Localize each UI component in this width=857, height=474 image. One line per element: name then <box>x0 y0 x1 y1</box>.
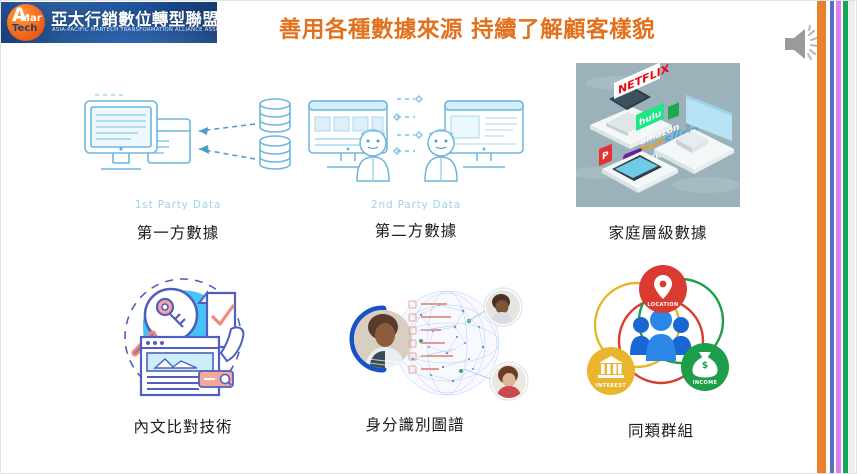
presentation-slide: A Mar Tech 亞太行銷數位轉型聯盟協會 ASIA-PACIFIC MAR… <box>0 0 857 474</box>
card-caption: 第一方數據 <box>63 221 293 243</box>
magnifier-key-document-check-icon <box>103 273 263 407</box>
card-caption: 第二方數據 <box>301 219 531 241</box>
logo-text-tech: Tech <box>12 24 37 34</box>
svg-text:$: $ <box>702 361 708 371</box>
card-second-party-data[interactable]: 2nd Party Data 第二方數據 <box>301 87 531 241</box>
card-caption: 內文比對技術 <box>93 415 273 437</box>
card-caption: 同類群組 <box>577 419 745 441</box>
venn-location-interest-income-icon: LOCATION INTEREST <box>581 263 741 409</box>
slide-edge-color-stripes <box>817 1 855 473</box>
card-caption: 身分識別圖譜 <box>297 413 533 435</box>
desktop-database-arrows-icon <box>63 79 293 197</box>
association-logo-banner: A Mar Tech 亞太行銷數位轉型聯盟協會 ASIA-PACIFIC MAR… <box>1 2 217 43</box>
svg-text:INTEREST: INTEREST <box>596 383 627 389</box>
household-streaming-devices-image: NETFLIX hulu amazon P <box>576 63 740 207</box>
two-people-monitors-exchange-icon <box>301 87 531 197</box>
card-first-party-data[interactable]: 1st Party Data 第一方數據 <box>63 79 293 243</box>
svg-text:LOCATION: LOCATION <box>647 302 678 308</box>
card-sublabel: 2nd Party Data <box>301 199 531 211</box>
card-caption: 家庭層級數據 <box>567 221 749 243</box>
identity-graph-network-portraits-image <box>297 275 533 407</box>
stripe-light-gray <box>848 1 855 473</box>
svg-text:INCOME: INCOME <box>693 380 718 386</box>
card-lookalike-audience[interactable]: LOCATION INTEREST <box>577 263 745 441</box>
card-sublabel: 1st Party Data <box>63 199 293 211</box>
card-household-level-data[interactable]: NETFLIX hulu amazon P <box>567 63 749 243</box>
stripe-orange <box>817 1 826 473</box>
logo-english-name: ASIA-PACIFIC MARTECH TRANSFORMATION ALLI… <box>52 27 217 33</box>
martech-logo-icon: A Mar Tech <box>7 4 45 41</box>
slide-title: 善用各種數據來源 持續了解顧客樣貌 <box>247 12 687 44</box>
card-contextual-matching[interactable]: 內文比對技術 <box>93 273 273 437</box>
card-identity-graph[interactable]: 身分識別圖譜 <box>297 275 533 435</box>
